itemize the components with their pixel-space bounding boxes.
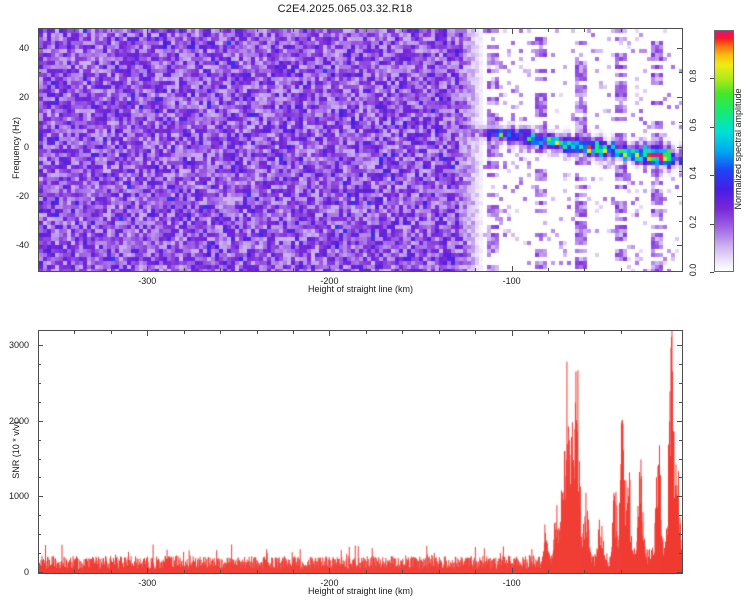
x-tick-major [512,266,513,271]
x-tick-minor-top [475,331,476,334]
x-tick-major [512,568,513,573]
y-tick-minor [38,402,41,403]
y-tick-right [677,196,682,197]
y-tick-label: 0 [0,567,29,577]
x-tick-major-top [512,331,513,336]
y-tick-minor [38,171,41,172]
colorbar-tick [710,272,714,273]
x-tick-minor [74,268,75,271]
x-tick-label: -300 [138,578,156,588]
y-tick-right-minor [679,534,682,535]
x-tick-minor [293,268,294,271]
colorbar-gradient [714,30,734,272]
y-tick-minor [38,534,41,535]
x-tick-major-top [512,29,513,34]
y-tick-right-minor [679,402,682,403]
x-tick-minor [257,268,258,271]
y-tick-right [677,245,682,246]
spectrogram-x-axis-label: Height of straight line (km) [308,284,413,294]
y-tick-major [38,345,43,346]
x-tick-minor [621,570,622,573]
x-tick-label: -100 [503,276,521,286]
colorbar-tick [710,224,714,225]
x-tick-minor-top [584,331,585,334]
colorbar-tick-label: 0.4 [688,160,698,186]
y-tick-minor [38,221,41,222]
x-tick-minor [293,570,294,573]
x-tick-major [329,568,330,573]
x-tick-major-top [329,29,330,34]
colorbar-tick [710,127,714,128]
x-tick-minor-top [111,331,112,334]
x-tick-minor [366,570,367,573]
y-tick-major [38,97,43,98]
snr-canvas [39,331,682,573]
y-tick-minor [38,459,41,460]
x-tick-minor [584,268,585,271]
x-tick-major-top [147,331,148,336]
y-tick-right [677,421,682,422]
x-tick-minor-top [366,29,367,32]
x-tick-minor [220,268,221,271]
y-tick-major [38,196,43,197]
y-tick-label: 3000 [0,340,29,350]
colorbar-tick [710,175,714,176]
y-tick-minor [38,515,41,516]
figure-title: C2E4.2025.065.03.32.R18 [0,3,690,15]
x-tick-minor-top [439,331,440,334]
y-tick-right-minor [679,553,682,554]
x-tick-minor-top [220,331,221,334]
y-tick-minor [38,383,41,384]
y-tick-right-minor [679,440,682,441]
x-tick-minor [184,268,185,271]
x-tick-minor-top [257,331,258,334]
x-tick-minor-top [584,29,585,32]
y-tick-right [677,97,682,98]
x-tick-minor-top [257,29,258,32]
y-tick-major [38,48,43,49]
colorbar-tick-label: 0.0 [688,257,698,283]
x-tick-minor-top [548,29,549,32]
x-tick-minor-top [366,331,367,334]
snr-y-axis-label: SNR (10 * v/v) [11,390,21,510]
y-tick-minor [38,440,41,441]
y-tick-right-minor [679,477,682,478]
x-tick-minor [111,268,112,271]
x-tick-minor-top [621,29,622,32]
y-tick-major [38,496,43,497]
x-tick-minor-top [293,29,294,32]
y-tick-right [677,572,682,573]
x-tick-minor-top [402,29,403,32]
x-tick-minor-top [475,29,476,32]
colorbar-label: Normalized spectral amplitude [733,54,743,244]
y-tick-minor [38,364,41,365]
x-tick-minor-top [184,331,185,334]
x-tick-minor-top [402,331,403,334]
x-tick-major-top [329,331,330,336]
y-tick-minor [38,72,41,73]
x-tick-minor-top [74,331,75,334]
x-tick-minor [548,268,549,271]
x-tick-minor [475,268,476,271]
x-tick-minor [548,570,549,573]
x-tick-minor [402,268,403,271]
y-tick-major [38,147,43,148]
x-tick-minor-top [111,29,112,32]
x-tick-minor-top [548,331,549,334]
colorbar-tick [710,78,714,79]
x-tick-major [329,266,330,271]
y-tick-right-minor [679,459,682,460]
colorbar: 0.00.20.40.60.8 [714,30,734,272]
x-tick-minor [74,570,75,573]
spectrogram-y-axis-label: Frequency (Hz) [11,88,21,208]
x-tick-minor [366,268,367,271]
x-tick-label: -100 [503,578,521,588]
x-tick-minor-top [293,331,294,334]
y-tick-right-minor [679,221,682,222]
x-tick-minor [439,268,440,271]
y-tick-right-minor [679,171,682,172]
x-tick-minor [475,570,476,573]
y-tick-right [677,48,682,49]
y-tick-right-minor [679,122,682,123]
y-tick-right-minor [679,364,682,365]
x-tick-minor [220,570,221,573]
x-tick-minor [402,570,403,573]
y-tick-major [38,245,43,246]
colorbar-tick-label: 0.6 [688,112,698,138]
x-tick-minor-top [74,29,75,32]
x-tick-minor-top [621,331,622,334]
y-tick-right-minor [679,383,682,384]
y-tick-minor [38,122,41,123]
y-tick-right [677,345,682,346]
x-tick-minor [184,570,185,573]
x-tick-minor [621,268,622,271]
x-tick-minor-top [439,29,440,32]
y-tick-right-minor [679,72,682,73]
y-tick-label: -40 [0,240,29,250]
snr-plot-area [38,330,683,574]
figure-root: C2E4.2025.065.03.32.R18 -40-2002040-300-… [0,0,750,600]
x-tick-major-top [147,29,148,34]
x-tick-minor [257,570,258,573]
x-tick-minor [584,570,585,573]
spectrogram-canvas [39,29,682,271]
x-tick-minor-top [184,29,185,32]
y-tick-minor [38,553,41,554]
y-tick-major [38,421,43,422]
y-tick-minor [38,477,41,478]
y-tick-major [38,572,43,573]
x-tick-label: -300 [138,276,156,286]
snr-x-axis-label: Height of straight line (km) [308,586,413,596]
x-tick-minor [439,570,440,573]
x-tick-minor-top [220,29,221,32]
spectrogram-plot-area [38,28,683,272]
y-tick-right [677,147,682,148]
x-tick-major [147,266,148,271]
y-tick-right-minor [679,515,682,516]
y-tick-right [677,496,682,497]
x-tick-minor [111,570,112,573]
x-tick-major [147,568,148,573]
colorbar-tick-label: 0.8 [688,63,698,89]
colorbar-tick-label: 0.2 [688,209,698,235]
y-tick-label: 40 [0,43,29,53]
